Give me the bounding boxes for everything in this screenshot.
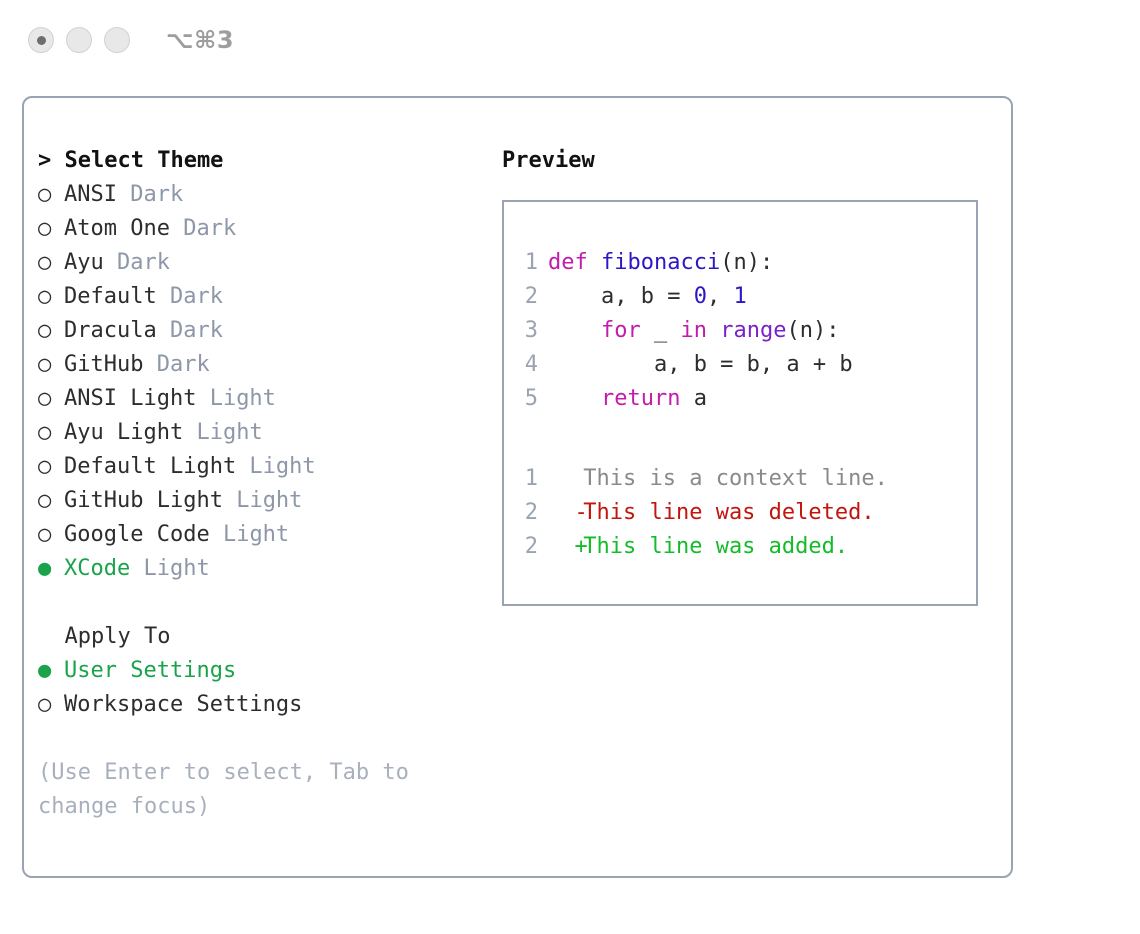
- theme-name: Ayu Light: [64, 420, 183, 445]
- theme-type-label: Dark: [143, 352, 209, 377]
- diff-text: This is a context line.: [570, 466, 888, 491]
- code-token: fibonacci: [601, 250, 720, 275]
- code-token: in: [680, 318, 707, 343]
- code-token: a, b = b, a + b: [548, 352, 853, 377]
- keyboard-hint-text: (Use Enter to select, Tab to change focu…: [38, 756, 458, 824]
- traffic-light-2[interactable]: [66, 27, 92, 53]
- code-token: [707, 318, 720, 343]
- radio-selected-icon: ●: [38, 654, 64, 688]
- list-spacer: [38, 586, 488, 620]
- diff-line: 1 This is a context line.: [522, 462, 976, 496]
- radio-selected-icon: ●: [38, 552, 64, 586]
- traffic-light-active[interactable]: [28, 27, 54, 53]
- theme-type-label: Light: [196, 386, 275, 411]
- theme-list-item[interactable]: ○Google Code Light: [38, 518, 488, 552]
- code-token: return: [601, 386, 680, 411]
- diff-line: 2 - This line was deleted.: [522, 496, 976, 530]
- theme-type-label: Dark: [157, 284, 223, 309]
- radio-unselected-icon: ○: [38, 416, 64, 450]
- theme-list-item[interactable]: ○ANSI Dark: [38, 178, 488, 212]
- code-token: [588, 250, 601, 275]
- traffic-light-3[interactable]: [104, 27, 130, 53]
- preview-box: 1def fibonacci(n):2 a, b = 0, 13 for _ i…: [502, 200, 978, 606]
- hint-spacer: [38, 722, 488, 756]
- theme-list-item[interactable]: ○Default Dark: [38, 280, 488, 314]
- apply-to-heading: Apply To: [38, 620, 488, 654]
- theme-name: Atom One: [64, 216, 170, 241]
- diff-text: This line was deleted.: [570, 500, 875, 525]
- radio-unselected-icon: ○: [38, 314, 64, 348]
- theme-type-label: Dark: [170, 216, 236, 241]
- theme-list-item[interactable]: ○Dracula Dark: [38, 314, 488, 348]
- theme-list-item[interactable]: ○Ayu Dark: [38, 246, 488, 280]
- radio-unselected-icon: ○: [38, 246, 64, 280]
- diff-marker-icon: [548, 462, 570, 496]
- radio-unselected-icon: ○: [38, 280, 64, 314]
- theme-name: Default Light: [64, 454, 236, 479]
- radio-unselected-icon: ○: [38, 450, 64, 484]
- code-line-number: 3: [522, 314, 538, 348]
- code-token: [548, 386, 601, 411]
- theme-type-label: Dark: [104, 250, 170, 275]
- code-token: _: [641, 318, 681, 343]
- apply-to-item[interactable]: ○Workspace Settings: [38, 688, 488, 722]
- code-token: (n):: [786, 318, 839, 343]
- theme-name: Dracula: [64, 318, 157, 343]
- radio-unselected-icon: ○: [38, 212, 64, 246]
- code-line: 4 a, b = b, a + b: [522, 348, 976, 382]
- code-line: 5 return a: [522, 382, 976, 416]
- theme-type-label: Light: [130, 556, 209, 581]
- apply-to-item[interactable]: ●User Settings: [38, 654, 488, 688]
- theme-list-item[interactable]: ○ANSI Light Light: [38, 382, 488, 416]
- theme-type-label: Dark: [117, 182, 183, 207]
- code-token: range: [720, 318, 786, 343]
- code-diff-gap: [522, 416, 976, 462]
- theme-name: Default: [64, 284, 157, 309]
- theme-name: ANSI Light: [64, 386, 196, 411]
- code-line: 1def fibonacci(n):: [522, 246, 976, 280]
- theme-name: GitHub Light: [64, 488, 223, 513]
- theme-list-item[interactable]: ●XCode Light: [38, 552, 488, 586]
- code-token: (n):: [720, 250, 773, 275]
- diff-text: This line was added.: [570, 534, 848, 559]
- theme-list-item[interactable]: ○Default Light Light: [38, 450, 488, 484]
- diff-line-number: 2: [522, 530, 538, 564]
- theme-name: Google Code: [64, 522, 210, 547]
- theme-name: XCode: [64, 556, 130, 581]
- traffic-light-dot-icon: [37, 36, 46, 45]
- theme-name: ANSI: [64, 182, 117, 207]
- diff-line-number: 1: [522, 462, 538, 496]
- radio-unselected-icon: ○: [38, 518, 64, 552]
- diff-marker-icon: -: [548, 496, 570, 530]
- diff-marker-icon: +: [548, 530, 570, 564]
- theme-type-label: Light: [223, 488, 302, 513]
- theme-type-label: Light: [183, 420, 262, 445]
- code-line: 2 a, b = 0, 1: [522, 280, 976, 314]
- code-token: a: [680, 386, 707, 411]
- code-sample: 1def fibonacci(n):2 a, b = 0, 13 for _ i…: [522, 246, 976, 416]
- radio-unselected-icon: ○: [38, 382, 64, 416]
- code-token: ,: [707, 284, 734, 309]
- radio-unselected-icon: ○: [38, 178, 64, 212]
- select-theme-heading: > Select Theme: [38, 144, 488, 178]
- theme-name: GitHub: [64, 352, 143, 377]
- diff-line-number: 2: [522, 496, 538, 530]
- code-token: 0: [694, 284, 707, 309]
- radio-unselected-icon: ○: [38, 484, 64, 518]
- code-line: 3 for _ in range(n):: [522, 314, 976, 348]
- code-line-number: 5: [522, 382, 538, 416]
- apply-to-label: Workspace Settings: [64, 692, 302, 717]
- keyboard-shortcut-label: ⌥⌘3: [166, 26, 234, 54]
- code-line-number: 2: [522, 280, 538, 314]
- theme-list-item[interactable]: ○GitHub Dark: [38, 348, 488, 382]
- theme-list-item[interactable]: ○Atom One Dark: [38, 212, 488, 246]
- radio-unselected-icon: ○: [38, 348, 64, 382]
- apply-to-label: User Settings: [64, 658, 236, 683]
- code-token: a, b =: [548, 284, 694, 309]
- window-titlebar: ⌥⌘3: [0, 0, 1140, 80]
- theme-type-label: Dark: [157, 318, 223, 343]
- code-token: for: [601, 318, 641, 343]
- traffic-lights: [28, 27, 130, 53]
- theme-type-label: Light: [210, 522, 289, 547]
- radio-unselected-icon: ○: [38, 688, 64, 722]
- theme-type-label: Light: [236, 454, 315, 479]
- main-panel: > Select Theme ○ANSI Dark○Atom One Dark○…: [22, 96, 1013, 878]
- preview-column: Preview 1def fibonacci(n):2 a, b = 0, 13…: [502, 144, 992, 606]
- theme-picker-column: > Select Theme ○ANSI Dark○Atom One Dark○…: [38, 144, 488, 824]
- theme-list[interactable]: ○ANSI Dark○Atom One Dark○Ayu Dark○Defaul…: [38, 178, 488, 586]
- apply-to-list[interactable]: ●User Settings○Workspace Settings: [38, 654, 488, 722]
- theme-list-item[interactable]: ○Ayu Light Light: [38, 416, 488, 450]
- preview-heading: Preview: [502, 144, 992, 178]
- code-token: [548, 318, 601, 343]
- diff-sample: 1 This is a context line.2 - This line w…: [522, 462, 976, 564]
- code-line-number: 4: [522, 348, 538, 382]
- theme-list-item[interactable]: ○GitHub Light Light: [38, 484, 488, 518]
- diff-line: 2 + This line was added.: [522, 530, 976, 564]
- code-line-number: 1: [522, 246, 538, 280]
- code-token: def: [548, 250, 588, 275]
- theme-name: Ayu: [64, 250, 104, 275]
- code-token: 1: [733, 284, 746, 309]
